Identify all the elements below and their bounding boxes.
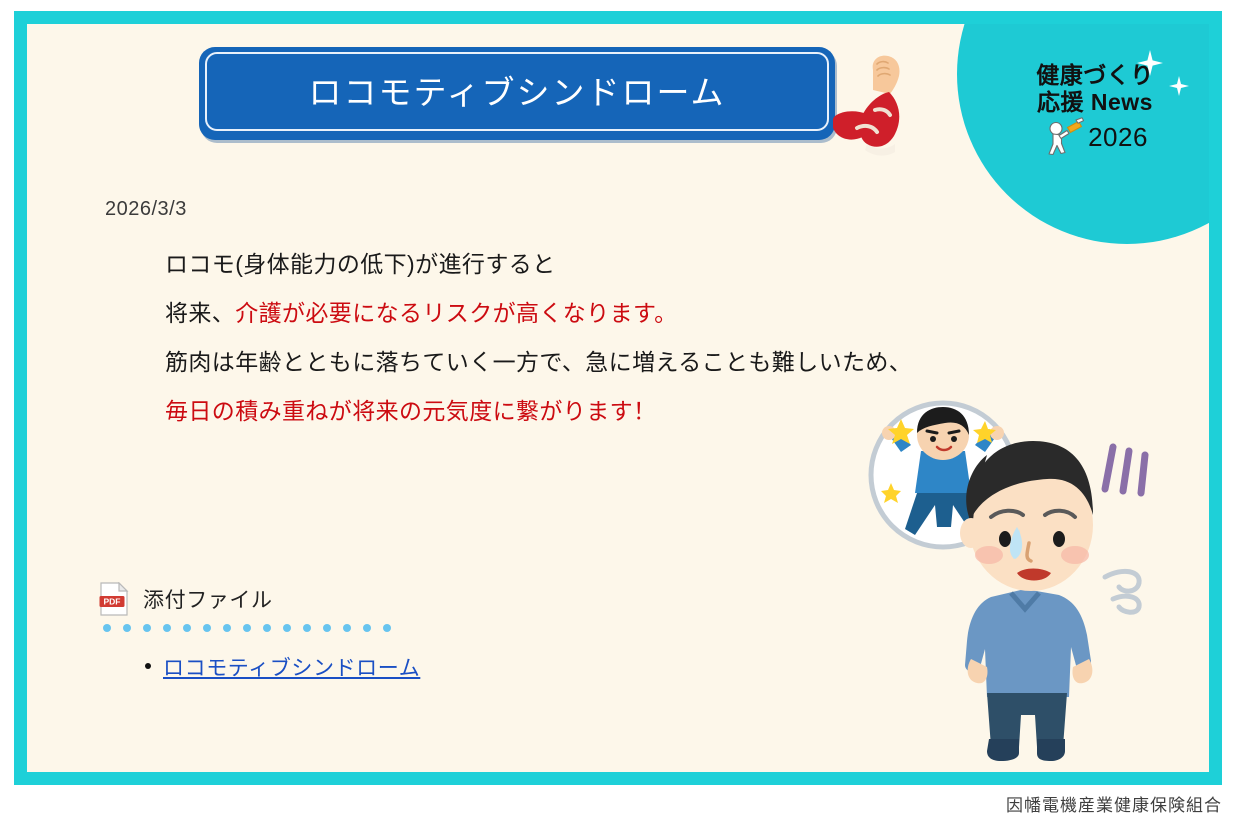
body-line: 将来、介護が必要になるリスクが高くなります。: [165, 302, 965, 325]
attachment-block: PDF 添付ファイル: [99, 582, 420, 682]
divider-dot: [383, 624, 391, 632]
divider-dot: [363, 624, 371, 632]
body-copy: ロコモ(身体能力の低下)が進行すると 将来、介護が必要になるリスクが高くなります…: [165, 253, 965, 423]
megaphone-person-icon: [1042, 117, 1084, 157]
body-line: ロコモ(身体能力の低下)が進行すると: [165, 253, 965, 276]
sigh-lines: [1105, 447, 1145, 493]
body-segment-highlight: 介護が必要になるリスクが高くなります。: [235, 300, 677, 326]
badge-line-3: 2026: [995, 117, 1195, 157]
title-banner: ロコモティブシンドローム: [199, 47, 835, 140]
attachment-link[interactable]: ロコモティブシンドローム: [163, 657, 420, 680]
svg-text:PDF: PDF: [104, 597, 121, 607]
divider-dot: [343, 624, 351, 632]
divider-dot: [143, 624, 151, 632]
divider-dot: [203, 624, 211, 632]
breath-puff: [1105, 571, 1139, 612]
divider-dot: [123, 624, 131, 632]
badge-year: 2026: [1088, 122, 1148, 153]
footer-organization: 因幡電機産業健康保険組合: [1006, 791, 1222, 816]
divider-dot: [103, 624, 111, 632]
divider-dot: [183, 624, 191, 632]
badge-text-group: 健康づくり 応援 News 2026: [995, 62, 1195, 157]
divider-dot: [323, 624, 331, 632]
divider-dot: [243, 624, 251, 632]
pdf-file-icon: PDF: [99, 582, 129, 616]
divider-dot: [303, 624, 311, 632]
tired-man-illustration: [861, 397, 1161, 772]
divider-dot: [223, 624, 231, 632]
news-card: 健康づくり 応援 News 2026: [14, 11, 1222, 785]
issue-date: 2026/3/3: [105, 198, 187, 221]
divider-dot: [163, 624, 171, 632]
list-item: ロコモティブシンドローム: [143, 652, 420, 682]
man-body: [965, 589, 1092, 761]
divider-dot: [263, 624, 271, 632]
body-line: 筋肉は年齢とともに落ちていく一方で、急に増えることも難しいため、: [165, 351, 965, 374]
body-line: 毎日の積み重ねが将来の元気度に繋がります！: [165, 400, 965, 423]
badge-line-1: 健康づくり: [995, 62, 1195, 89]
attachment-label: 添付ファイル: [143, 584, 273, 614]
body-segment-highlight: 毎日の積み重ねが将来の元気度に繋がります！: [165, 398, 656, 424]
news-card-inner: 健康づくり 応援 News 2026: [27, 24, 1209, 772]
dotted-divider: [103, 624, 420, 632]
body-segment: 将来、: [165, 300, 235, 326]
badge-line-2: 応援 News: [995, 89, 1195, 116]
page-title: ロコモティブシンドローム: [199, 66, 835, 114]
body-segment: 筋肉は年齢とともに落ちていく一方で、急に増えることも難しいため、: [165, 349, 912, 375]
flexed-arm-muscle-icon: [833, 52, 919, 160]
attachment-list: ロコモティブシンドローム: [143, 652, 420, 682]
body-segment: ロコモ(身体能力の低下)が進行すると: [165, 251, 556, 277]
attachment-header: PDF 添付ファイル: [99, 582, 420, 616]
man-head: [960, 441, 1093, 591]
divider-dot: [283, 624, 291, 632]
